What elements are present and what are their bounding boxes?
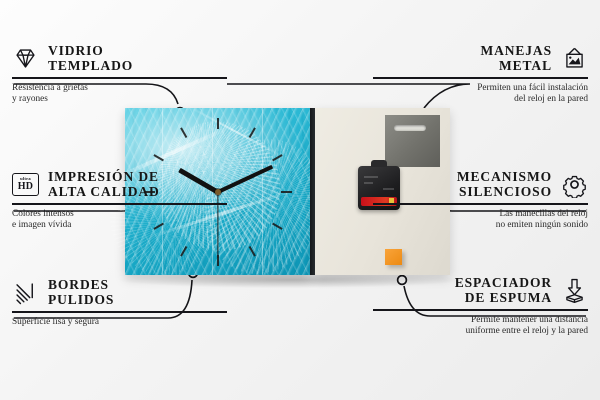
feature-description: Permiten una fácil instalación del reloj…	[373, 83, 588, 106]
ultra-hd-icon: ultra HD	[12, 171, 39, 198]
feature-metal-handles: MANEJAS METAL Permiten una fácil instala…	[373, 44, 588, 106]
gear-icon	[561, 171, 588, 198]
hour-tick	[218, 191, 292, 193]
feature-title: BORDES PULIDOS	[48, 278, 114, 307]
diamond-icon	[12, 45, 39, 72]
keyhole-slot	[394, 125, 426, 131]
divider	[12, 77, 227, 79]
feature-polished-edges: BORDES PULIDOS Superficie lisa y segura	[12, 278, 227, 328]
foam-spacer	[385, 249, 402, 265]
divider	[373, 203, 588, 205]
feature-description: Permite mantener una distancia uniforme …	[373, 315, 588, 338]
feature-title: MECANISMO SILENCIOSO	[457, 170, 552, 199]
feature-silent-mechanism: MECANISMO SILENCIOSO Las manecillas del …	[373, 170, 588, 232]
picture-frame-icon	[561, 45, 588, 72]
feature-description: Colores intensos e imagen vívida	[12, 209, 227, 232]
movement-hanger-tab	[371, 160, 387, 167]
divider	[373, 309, 588, 311]
divider	[373, 77, 588, 79]
feature-description: Las manecillas del reloj no emiten ningú…	[373, 209, 588, 232]
feature-description: Resistencia a grietas y rayones	[12, 83, 227, 106]
feature-description: Superficie lisa y segura	[12, 317, 227, 329]
feature-title: MANEJAS METAL	[480, 44, 552, 73]
down-arrow-pad-icon	[561, 277, 588, 304]
divider	[12, 203, 227, 205]
infographic-canvas: VIDRIO TEMPLADO Resistencia a grietas y …	[0, 0, 600, 400]
feature-high-quality-print: ultra HD IMPRESIÓN DE ALTA CALIDAD Color…	[12, 170, 227, 232]
feature-title: ESPACIADOR DE ESPUMA	[455, 276, 552, 305]
feature-foam-spacer: ESPACIADOR DE ESPUMA Permite mantener un…	[373, 276, 588, 338]
feature-title: IMPRESIÓN DE ALTA CALIDAD	[48, 170, 160, 199]
divider	[12, 311, 227, 313]
feature-tempered-glass: VIDRIO TEMPLADO Resistencia a grietas y …	[12, 44, 227, 106]
metal-hanger-plate	[385, 115, 440, 167]
polished-edges-icon	[12, 279, 39, 306]
glass-glare	[187, 105, 286, 159]
feature-title: VIDRIO TEMPLADO	[48, 44, 133, 73]
movement-detail	[364, 182, 373, 184]
